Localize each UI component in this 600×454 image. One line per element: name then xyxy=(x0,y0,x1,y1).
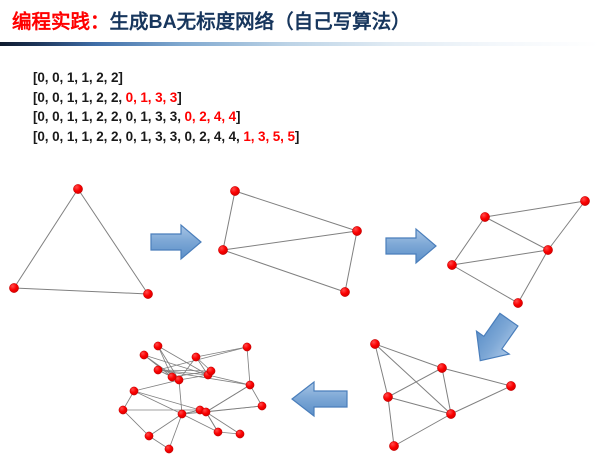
arrow-step-3-to-4 xyxy=(464,312,524,375)
graph-step-3 xyxy=(447,196,589,307)
graph-edge xyxy=(375,344,388,397)
code-line-plain: [0, 0, 1, 1, 2, 2] xyxy=(33,70,123,85)
code-line-highlight: 0, 1, 3, 3 xyxy=(126,90,178,105)
graph-edge xyxy=(206,412,218,432)
graph-node xyxy=(9,283,18,292)
graph-edge xyxy=(208,375,250,385)
graph-edge xyxy=(144,355,179,380)
graph-edges xyxy=(123,346,262,449)
graph-node xyxy=(145,432,153,440)
code-line: [0, 0, 1, 1, 2, 2] xyxy=(33,68,573,88)
graph-edge xyxy=(158,346,208,375)
graph-node xyxy=(207,367,215,375)
page-title-highlight: 编程实践： xyxy=(12,11,110,33)
arrow-down-left-icon xyxy=(464,312,524,370)
graph-edge xyxy=(452,217,485,265)
graph-edges xyxy=(452,201,585,303)
graph-node xyxy=(580,196,589,205)
arrow-right-icon xyxy=(148,222,204,262)
graph-edge xyxy=(223,231,357,250)
code-line-highlight: 1, 3, 5, 5 xyxy=(243,129,295,144)
graph-edge xyxy=(172,371,211,377)
graph-edge xyxy=(375,344,442,368)
graph-edge xyxy=(144,355,172,377)
graph-nodes xyxy=(447,196,589,307)
arrow-step-1-to-2 xyxy=(148,222,204,267)
graph-edge xyxy=(182,406,262,414)
graph-edge xyxy=(123,410,149,436)
graph-edge xyxy=(345,231,357,292)
graph-edge xyxy=(196,357,208,375)
graph-node xyxy=(340,287,349,296)
code-line-tail: ] xyxy=(295,129,299,144)
graph-edge xyxy=(179,357,196,380)
graph-edge xyxy=(206,406,262,412)
code-line-plain: [0, 0, 1, 1, 2, 2, 0, 1, 3, 3, 0, 2, 4, … xyxy=(33,129,243,144)
page-title: 编程实践：生成BA无标度网络（自己写算法） xyxy=(12,9,411,35)
code-line-plain: [0, 0, 1, 1, 2, 2, xyxy=(33,90,126,105)
graph-edge xyxy=(235,191,357,231)
graph-node xyxy=(437,363,446,372)
graph-node xyxy=(168,373,176,381)
graph-edge xyxy=(442,368,451,414)
graph-node xyxy=(543,245,552,254)
graph-step-5 xyxy=(119,342,266,453)
graph-edge xyxy=(144,355,208,375)
code-line: [0, 0, 1, 1, 2, 2, 0, 1, 3, 3, 0, 2, 4, … xyxy=(33,107,573,127)
graph-edge xyxy=(182,410,200,414)
graph-node xyxy=(513,298,522,307)
graph-edge xyxy=(485,217,548,250)
graph-edge xyxy=(158,370,172,377)
arrow-left-icon xyxy=(288,378,350,420)
graph-edge xyxy=(206,412,218,432)
graph-node xyxy=(246,381,254,389)
slide-title-area: 编程实践：生成BA无标度网络（自己写算法） xyxy=(0,4,600,40)
graph-edge xyxy=(206,385,250,412)
graph-node xyxy=(236,430,244,438)
graph-node xyxy=(202,408,210,416)
graph-edge xyxy=(179,375,208,380)
graph-edge xyxy=(179,380,182,414)
graph-nodes xyxy=(9,184,152,298)
graph-edge xyxy=(158,370,179,380)
graph-edge xyxy=(388,368,442,397)
page-title-main: 生成BA无标度网络（自己写算法） xyxy=(110,11,411,33)
code-line-highlight: 0, 2, 4, 4 xyxy=(185,109,237,124)
graph-edge xyxy=(223,250,345,292)
graph-node xyxy=(204,371,212,379)
graph-edge xyxy=(206,385,250,412)
graph-node xyxy=(230,186,239,195)
graph-edge xyxy=(158,346,172,377)
graph-edge xyxy=(78,189,148,294)
graph-node xyxy=(165,445,173,453)
graph-node xyxy=(140,351,148,359)
graph-node xyxy=(154,366,162,374)
graph-node xyxy=(192,353,200,361)
graph-node xyxy=(258,402,266,410)
graph-node xyxy=(243,343,251,351)
graph-nodes xyxy=(218,186,361,296)
code-listing: [0, 0, 1, 1, 2, 2] [0, 0, 1, 1, 2, 2, 0,… xyxy=(33,68,573,146)
graph-edges xyxy=(14,189,148,294)
graph-node xyxy=(196,406,204,414)
graph-step-1 xyxy=(9,184,152,298)
graph-edge xyxy=(158,370,211,371)
graph-edge xyxy=(149,436,169,449)
graph-edge xyxy=(14,189,78,288)
graph-node xyxy=(119,406,127,414)
graph-edge xyxy=(158,347,247,370)
graph-edge xyxy=(172,377,179,380)
graph-node xyxy=(130,387,138,395)
code-line: [0, 0, 1, 1, 2, 2, 0, 1, 3, 3] xyxy=(33,88,573,108)
graph-edge xyxy=(208,371,211,375)
graph-edge xyxy=(218,432,240,434)
graph-node xyxy=(383,392,392,401)
graph-node xyxy=(447,260,456,269)
graph-node xyxy=(143,289,152,298)
graph-node xyxy=(218,245,227,254)
graph-node xyxy=(73,184,82,193)
graph-edges xyxy=(223,191,357,292)
graph-edge xyxy=(223,191,235,250)
graph-edge xyxy=(452,250,548,265)
graph-node xyxy=(352,226,361,235)
graph-edge xyxy=(388,397,394,446)
graph-edge xyxy=(134,380,179,391)
graph-node xyxy=(506,381,515,390)
graph-edge xyxy=(388,397,451,414)
graph-node xyxy=(154,342,162,350)
graph-edge xyxy=(134,391,182,414)
graph-edge xyxy=(182,414,218,432)
graph-edge xyxy=(14,288,148,294)
code-line: [0, 0, 1, 1, 2, 2, 0, 1, 3, 3, 0, 2, 4, … xyxy=(33,127,573,147)
graph-edge xyxy=(182,410,200,414)
graph-step-2 xyxy=(218,186,361,296)
graph-edge xyxy=(158,346,179,380)
code-line-tail: ] xyxy=(177,90,181,105)
graph-edge xyxy=(196,357,211,371)
code-line-plain: [0, 0, 1, 1, 2, 2, 0, 1, 3, 3, xyxy=(33,109,185,124)
graph-edge xyxy=(123,391,134,410)
graph-edge xyxy=(250,385,262,406)
graph-edge xyxy=(182,412,206,414)
graph-edge xyxy=(394,414,451,446)
graph-node xyxy=(480,212,489,221)
graph-edge xyxy=(485,201,585,217)
graph-nodes xyxy=(119,342,266,453)
graph-edge xyxy=(206,412,240,434)
graph-node xyxy=(446,409,455,418)
graph-node xyxy=(214,428,222,436)
arrow-step-2-to-3 xyxy=(383,226,439,271)
code-line-tail: ] xyxy=(236,109,240,124)
arrow-step-4-to-5 xyxy=(288,378,350,425)
graph-edge xyxy=(247,347,250,385)
graph-edge xyxy=(158,370,250,385)
graph-node xyxy=(389,441,398,450)
graph-node xyxy=(175,376,183,384)
graph-edge xyxy=(196,347,247,357)
arrow-right-icon xyxy=(383,226,439,266)
graph-edge xyxy=(452,265,518,303)
graph-edge xyxy=(149,414,182,436)
graph-edge xyxy=(169,414,182,449)
graph-edge xyxy=(548,201,585,250)
title-divider xyxy=(0,42,600,46)
graph-edge xyxy=(451,386,511,414)
graph-edge xyxy=(158,370,208,375)
graph-node xyxy=(178,410,186,418)
graph-edge xyxy=(134,391,200,410)
graph-edge xyxy=(518,250,548,303)
slide-canvas: 编程实践：生成BA无标度网络（自己写算法） [0, 0, 1, 1, 2, 2]… xyxy=(0,0,600,454)
graph-edge xyxy=(375,344,451,414)
graph-node xyxy=(370,339,379,348)
